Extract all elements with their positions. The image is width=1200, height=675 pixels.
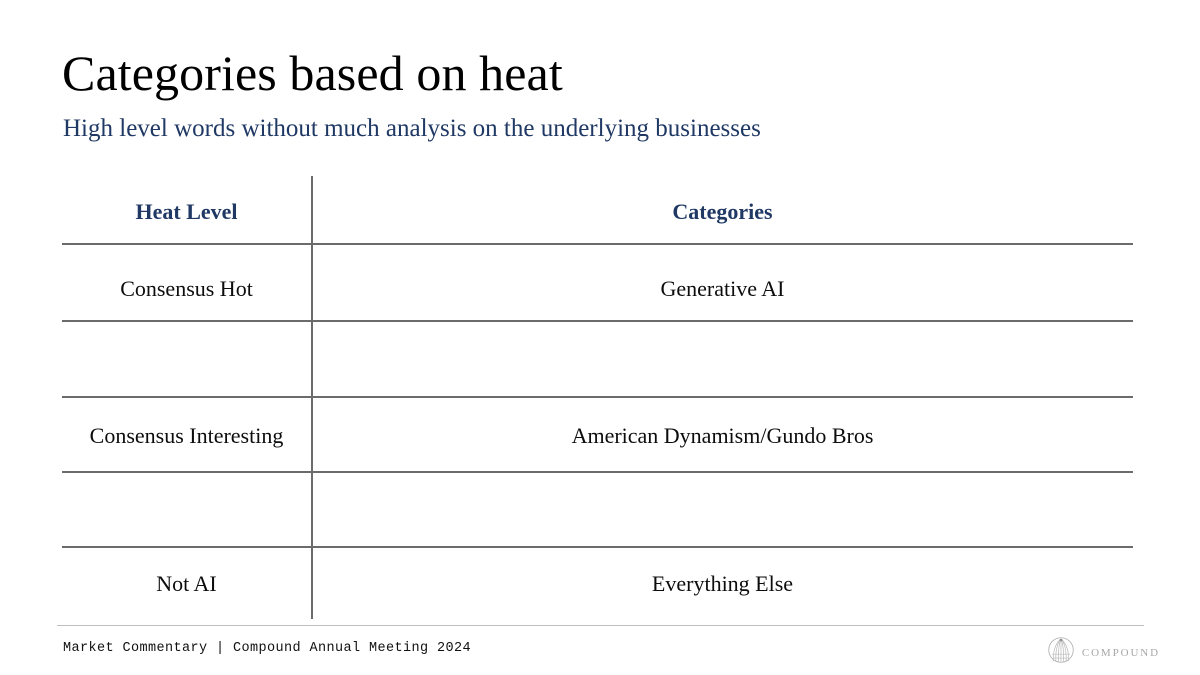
- brand-lockup: COMPOUND: [1047, 636, 1160, 669]
- table-row: American Dynamism/Gundo Bros: [312, 423, 1133, 449]
- table-row: Consensus Interesting: [62, 423, 311, 449]
- table-row: Consensus Hot: [62, 276, 311, 302]
- table-rule-row-4-bottom: [62, 546, 1133, 548]
- page-title: Categories based on heat: [62, 44, 563, 102]
- table-header-categories: Categories: [312, 199, 1133, 225]
- table-row: Everything Else: [312, 571, 1133, 597]
- table-row: Generative AI: [312, 276, 1133, 302]
- table-rule-row-1-bottom: [62, 320, 1133, 322]
- compound-globe-logo-icon: [1047, 636, 1075, 669]
- table-rule-header-bottom: [62, 243, 1133, 245]
- page-subtitle: High level words without much analysis o…: [63, 114, 761, 144]
- table-header-heat-level: Heat Level: [62, 199, 311, 225]
- table-rule-row-2-bottom: [62, 396, 1133, 398]
- footer-divider: [57, 625, 1144, 626]
- heat-categories-table: Heat Level Categories Consensus Hot Gene…: [62, 176, 1133, 619]
- footer-caption: Market Commentary | Compound Annual Meet…: [63, 641, 471, 656]
- table-row: Not AI: [62, 571, 311, 597]
- table-rule-row-3-bottom: [62, 471, 1133, 473]
- brand-name: COMPOUND: [1082, 647, 1160, 659]
- slide-canvas: Categories based on heat High level word…: [0, 0, 1200, 675]
